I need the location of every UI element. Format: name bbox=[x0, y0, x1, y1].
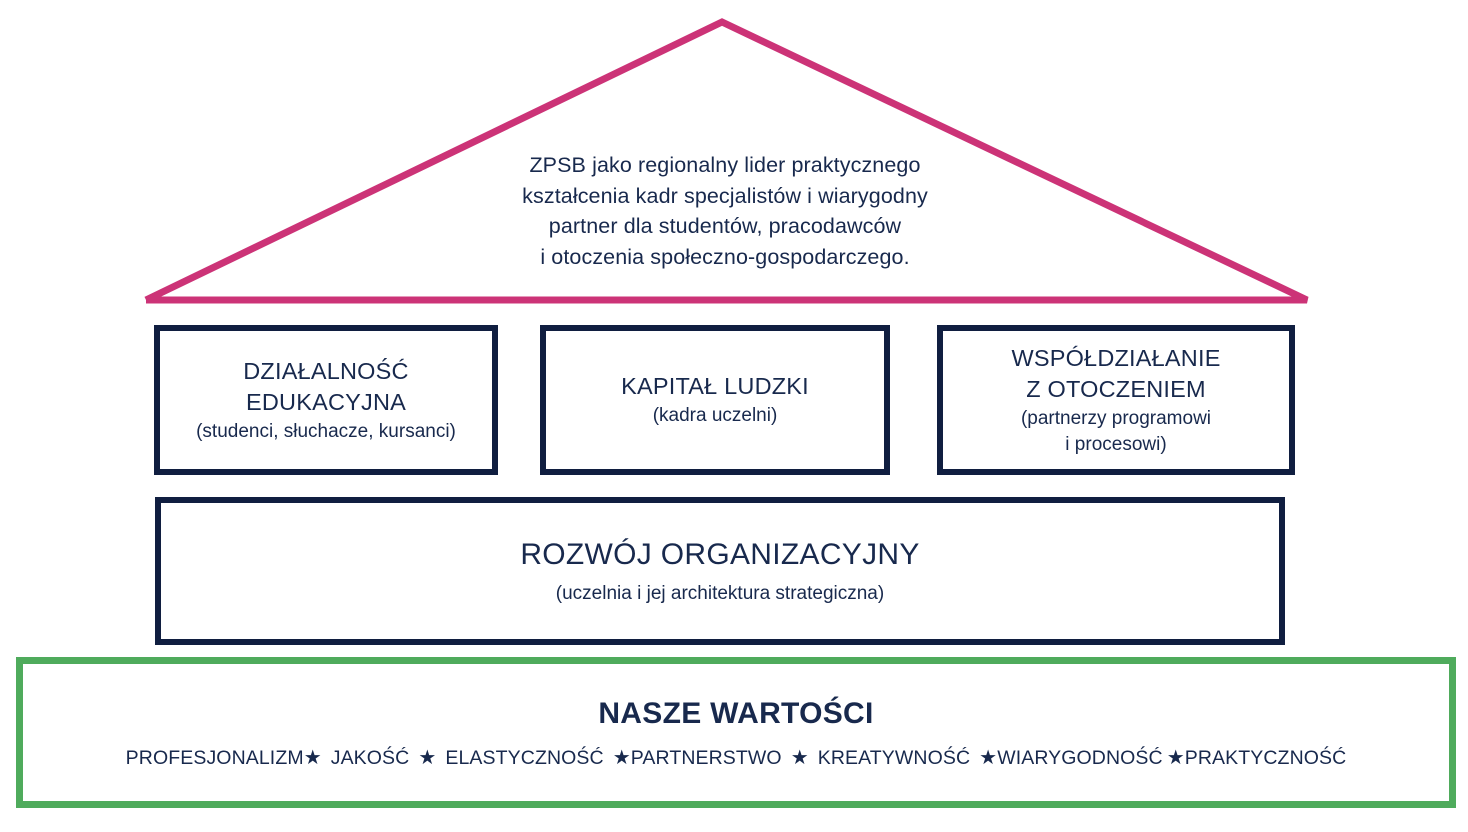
value-item: JAKOŚĆ bbox=[331, 745, 410, 771]
value-item: PROFESJONALIZM bbox=[126, 745, 304, 771]
pillar-dzialalnosc-edukacyjna: DZIAŁALNOŚĆ EDUKACYJNA (studenci, słucha… bbox=[154, 325, 498, 475]
strategy-house-diagram: ZPSB jako regionalny lider praktycznego … bbox=[0, 0, 1468, 832]
foundation-rozwoj-organizacyjny: ROZWÓJ ORGANIZACYJNY (uczelnia i jej arc… bbox=[155, 497, 1285, 645]
vision-statement: ZPSB jako regionalny lider praktycznego … bbox=[380, 150, 1070, 272]
star-icon: ★ bbox=[418, 745, 436, 771]
values-title: NASZE WARTOŚCI bbox=[598, 695, 873, 733]
pillar-kapital-ludzki: KAPITAŁ LUDZKI (kadra uczelni) bbox=[540, 325, 890, 475]
foundation-subtitle: (uczelnia i jej architektura strategiczn… bbox=[556, 581, 884, 607]
value-item: PRAKTYCZNOŚĆ bbox=[1185, 745, 1347, 771]
star-icon: ★ bbox=[1167, 745, 1185, 771]
pillar-title: KAPITAŁ LUDZKI bbox=[621, 371, 809, 402]
pillar-wspoldzialanie-z-otoczeniem: WSPÓŁDZIAŁANIE Z OTOCZENIEM (partnerzy p… bbox=[937, 325, 1295, 475]
pillar-title: WSPÓŁDZIAŁANIE Z OTOCZENIEM bbox=[1011, 343, 1220, 405]
value-item: WIARYGODNOŚĆ bbox=[997, 745, 1163, 771]
pillar-subtitle: (partnerzy programowi i procesowi) bbox=[1021, 406, 1211, 458]
star-icon: ★ bbox=[791, 745, 809, 771]
pillar-subtitle: (studenci, słuchacze, kursanci) bbox=[196, 419, 456, 445]
pillar-subtitle: (kadra uczelni) bbox=[653, 403, 778, 429]
values-list: PROFESJONALIZM★JAKOŚĆ★ELASTYCZNOŚĆ★PARTN… bbox=[126, 745, 1347, 771]
foundation-title: ROZWÓJ ORGANIZACYJNY bbox=[520, 535, 919, 575]
values-section: NASZE WARTOŚCI PROFESJONALIZM★JAKOŚĆ★ELA… bbox=[16, 657, 1456, 808]
star-icon: ★ bbox=[979, 745, 997, 771]
roof-section: ZPSB jako regionalny lider praktycznego … bbox=[0, 0, 1468, 320]
value-item: KREATYWNOŚĆ bbox=[818, 745, 970, 771]
value-item: ELASTYCZNOŚĆ bbox=[445, 745, 603, 771]
star-icon: ★ bbox=[613, 745, 631, 771]
value-item: PARTNERSTWO bbox=[631, 745, 782, 771]
star-icon: ★ bbox=[304, 745, 322, 771]
pillar-title: DZIAŁALNOŚĆ EDUKACYJNA bbox=[243, 356, 408, 418]
